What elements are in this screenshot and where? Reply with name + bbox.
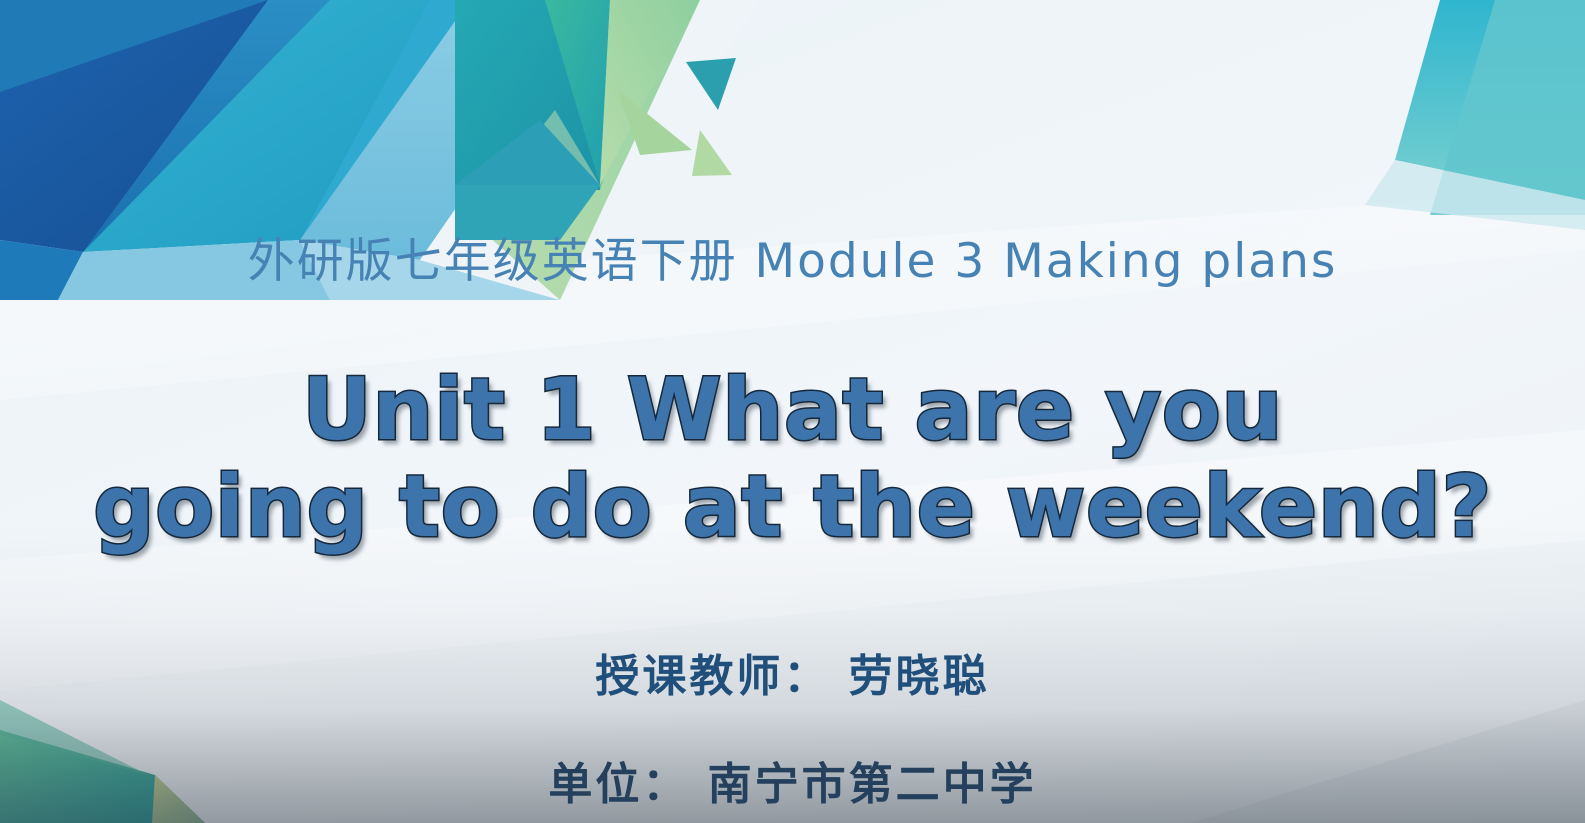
teacher-name-line: 授课教师： 劳晓聪: [0, 640, 1585, 704]
course-subtitle: 外研版七年级英语下册 Module 3 Making plans: [0, 222, 1585, 291]
school-name-line: 单位： 南宁市第二中学: [0, 748, 1585, 812]
page-title: Unit 1 What are you going to do at the w…: [0, 362, 1585, 556]
presentation-slide: 外研版七年级英语下册 Module 3 Making plans Unit 1 …: [0, 0, 1585, 823]
slide-content: 外研版七年级英语下册 Module 3 Making plans Unit 1 …: [0, 0, 1585, 823]
